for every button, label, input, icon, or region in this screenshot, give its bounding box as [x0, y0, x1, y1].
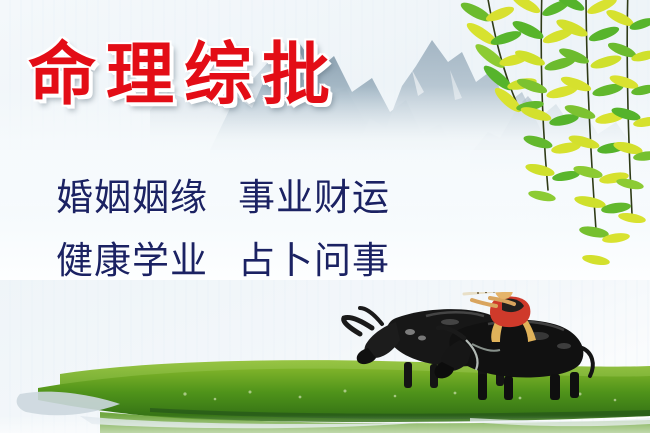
page-title: 命理综批: [28, 40, 340, 112]
buffalo-front: [435, 320, 593, 400]
subtitle-1-left: 婚姻姻缘: [56, 176, 208, 219]
subtitle-2-left: 健康学业: [56, 239, 208, 282]
subtitle-2-right: 占卜问事: [238, 239, 390, 282]
subtitle-line-1: 婚姻姻缘事业财运: [56, 178, 390, 218]
poster-canvas: 命理综批 婚姻姻缘事业财运 健康学业占卜问事: [0, 0, 650, 433]
willow-branches-icon: [390, 0, 650, 324]
buffalo-and-herder-scene: [338, 292, 608, 402]
subtitle-1-right: 事业财运: [238, 176, 390, 219]
foreground-haze: [0, 415, 650, 433]
subtitle-line-2: 健康学业占卜问事: [56, 241, 390, 281]
